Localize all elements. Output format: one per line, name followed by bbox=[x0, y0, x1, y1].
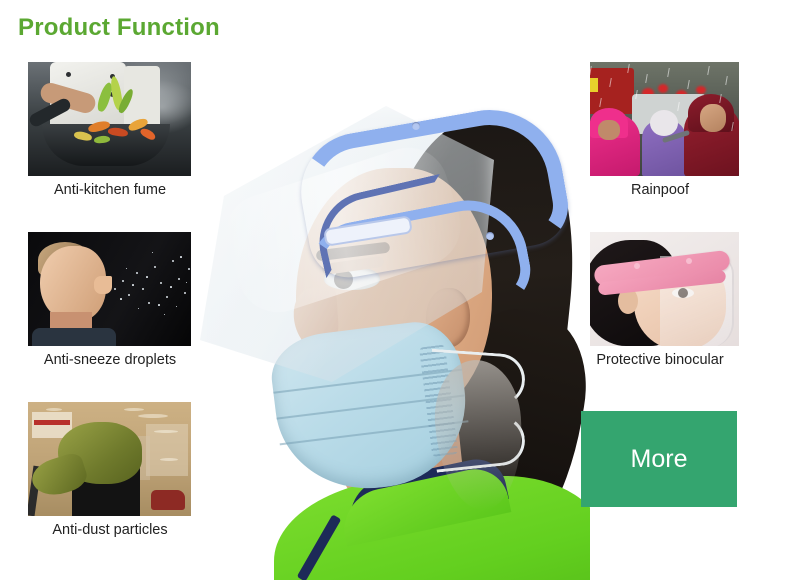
feature-label: Anti-sneeze droplets bbox=[10, 352, 210, 368]
product-function-section: Product Function bbox=[0, 0, 788, 580]
feature-label: Anti-kitchen fume bbox=[10, 182, 210, 198]
chef-cooking-wok-thumbnail[interactable] bbox=[28, 62, 191, 176]
feature-label: Rainpoof bbox=[560, 182, 760, 198]
riders-in-rain-ponchos-thumbnail[interactable] bbox=[576, 62, 739, 176]
dust-storm-scarf-thumbnail[interactable] bbox=[28, 402, 191, 516]
feature-label: Anti-dust particles bbox=[10, 522, 210, 538]
woman-wearing-blue-face-shield bbox=[198, 60, 590, 580]
feature-label: Protective binocular bbox=[560, 352, 760, 368]
man-sneezing-thumbnail[interactable] bbox=[28, 232, 191, 346]
page-title: Product Function bbox=[18, 14, 220, 42]
more-button[interactable]: More bbox=[581, 411, 737, 507]
pink-face-shield-thumbnail[interactable] bbox=[576, 232, 739, 346]
